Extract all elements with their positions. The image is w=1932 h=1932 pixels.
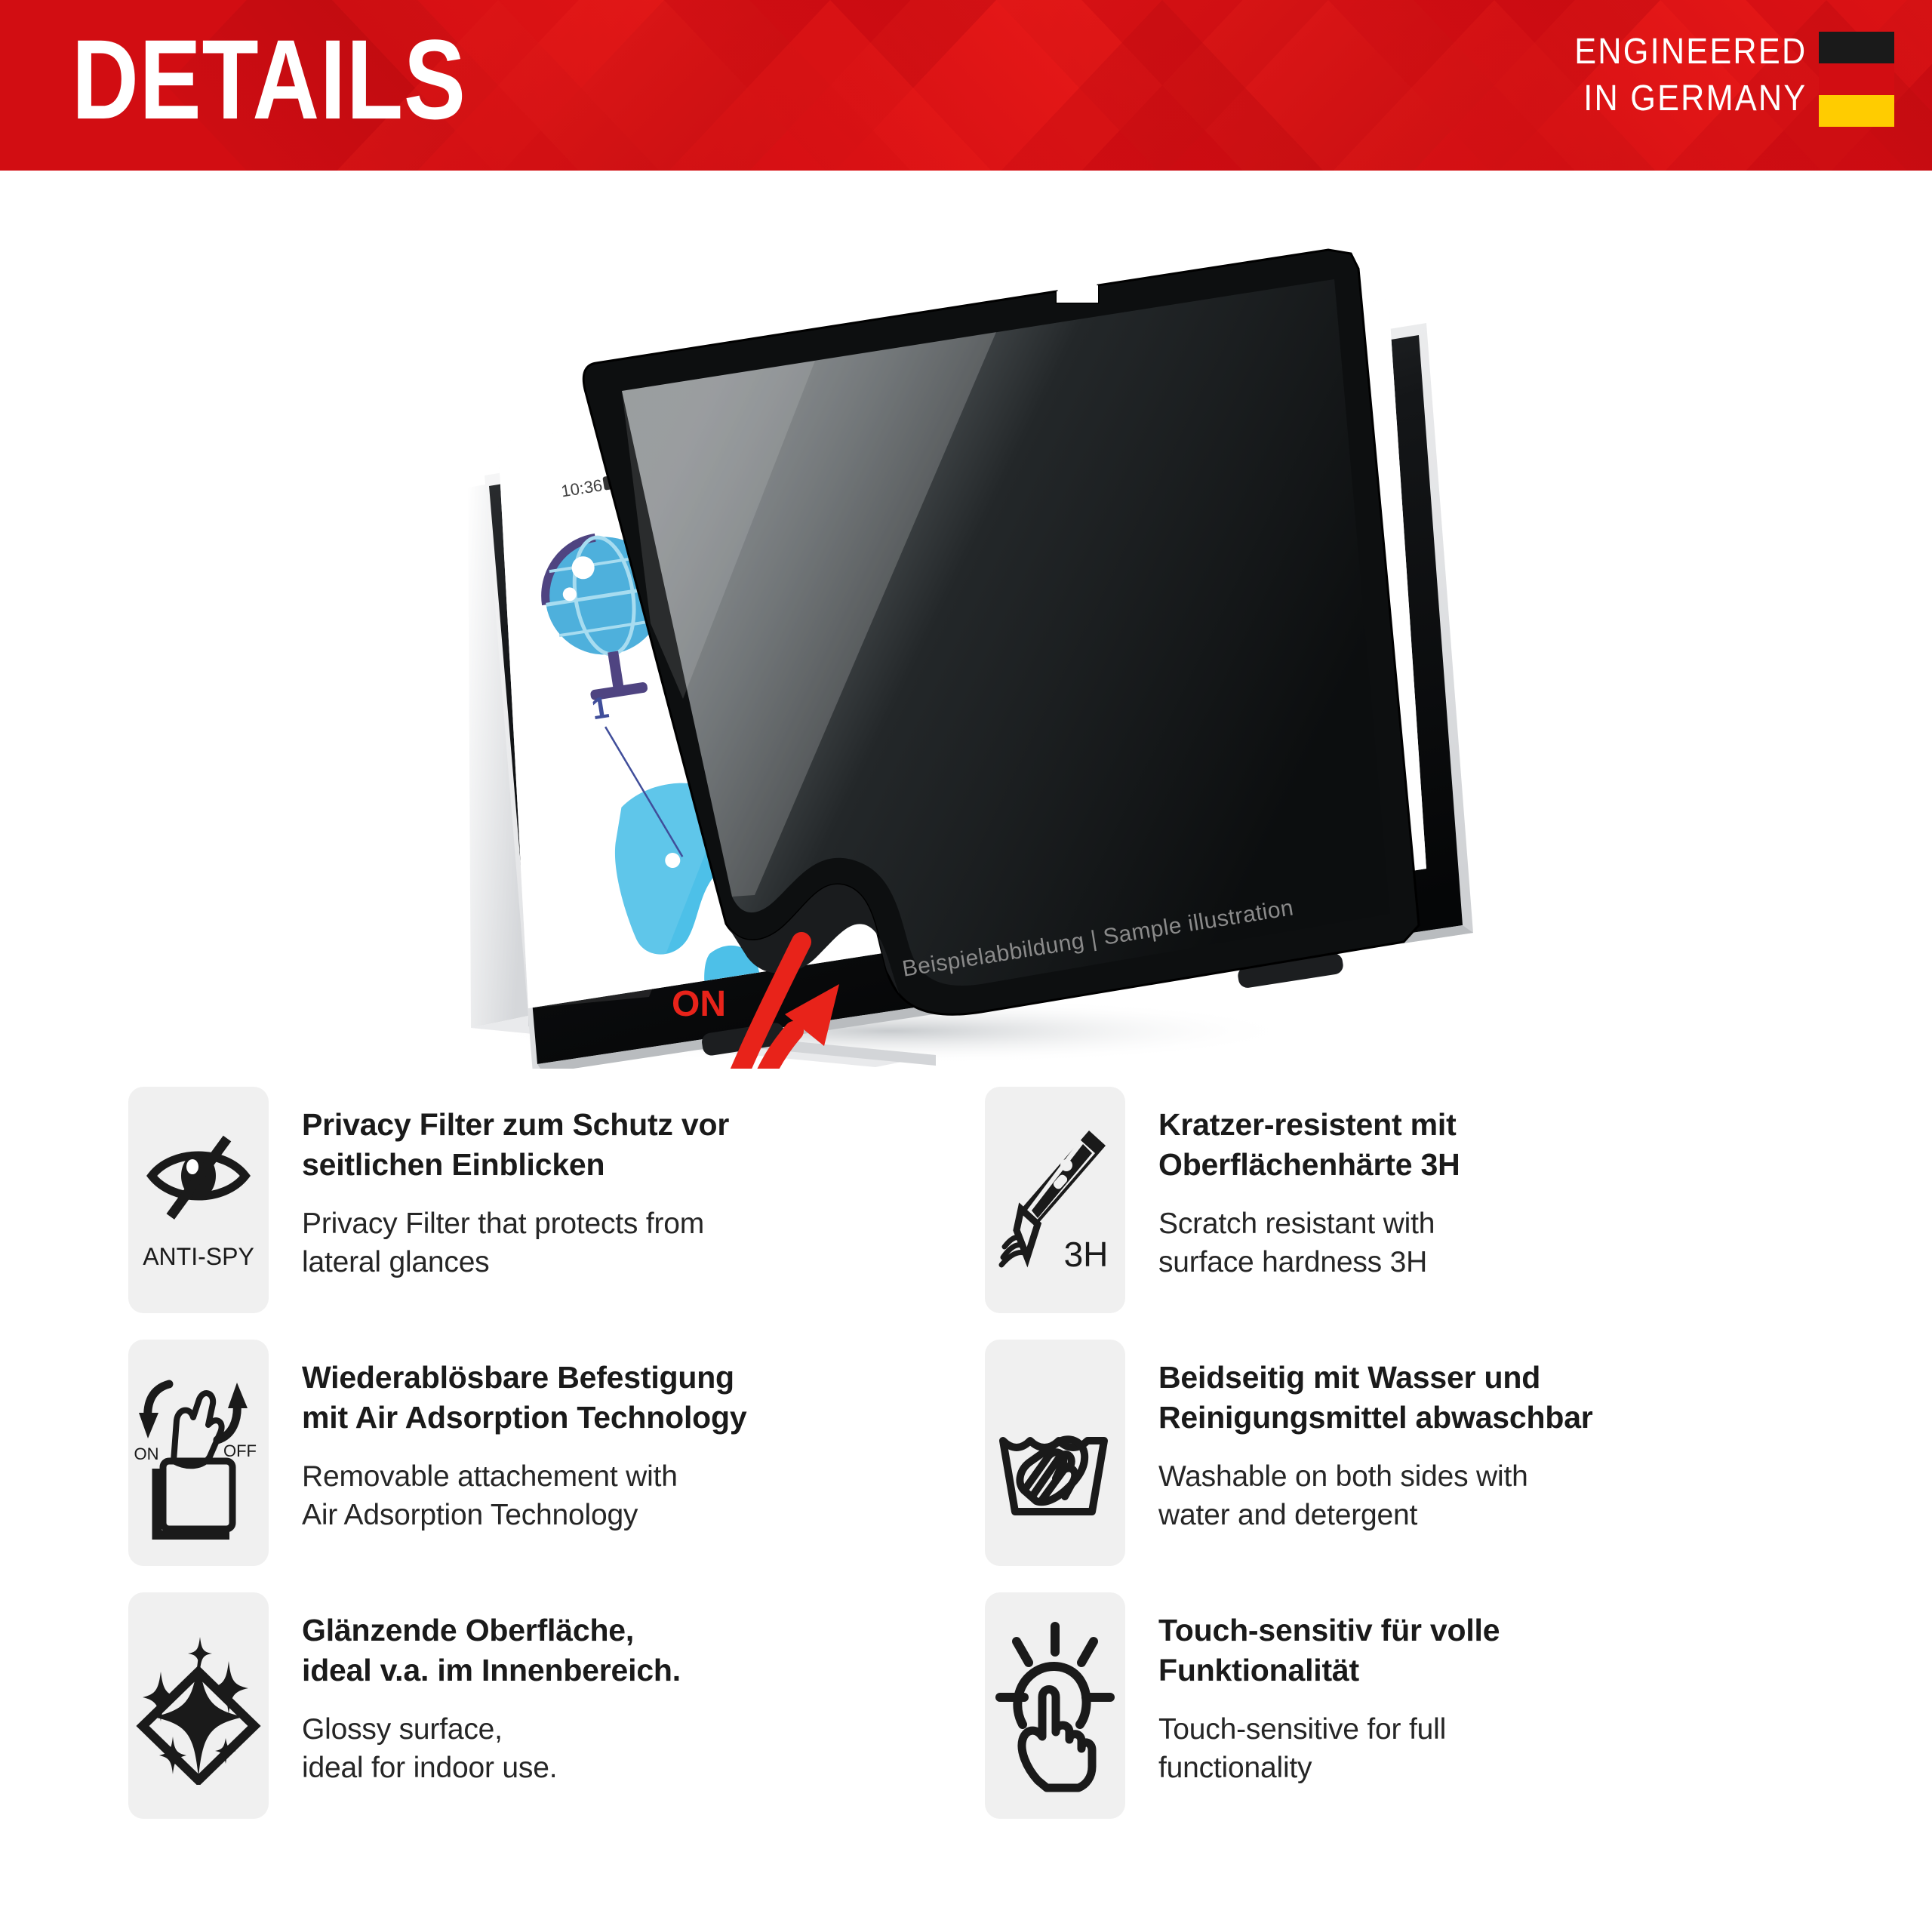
feature-text: Kratzer-resistent mit Oberflächenhärte 3… [1158,1087,1460,1281]
feature-title: Wiederablösbare Befestigung mit Air Adso… [302,1358,746,1438]
feature-subtitle: Scratch resistant with surface hardness … [1158,1204,1460,1281]
title-line: Oberflächenhärte 3H [1158,1145,1460,1185]
feature-title: Glänzende Oberfläche, ideal v.a. im Inne… [302,1611,681,1690]
sparkle-diamond-icon [128,1592,269,1819]
feature-text: Glänzende Oberfläche, ideal v.a. im Inne… [302,1592,681,1787]
anti-spy-eye-icon: ANTI-SPY [128,1087,269,1313]
feature-item-touch-sensitive: Touch-sensitiv für volle Funktionalität … [985,1592,1811,1845]
feature-title: Kratzer-resistent mit Oberflächenhärte 3… [1158,1105,1460,1185]
feature-item-glossy-surface: Glänzende Oberfläche, ideal v.a. im Inne… [128,1592,955,1845]
sub-line: surface hardness 3H [1158,1243,1460,1281]
title-line: ideal v.a. im Innenbereich. [302,1651,681,1690]
feature-subtitle: Privacy Filter that protects from latera… [302,1204,729,1281]
feature-text: Wiederablösbare Befestigung mit Air Adso… [302,1340,746,1534]
svg-text:Japan: Japan [1509,946,1566,977]
feature-subtitle: Glossy surface, ideal for indoor use. [302,1710,681,1787]
engineered-text: ENGINEERED IN GERMANY [1574,29,1807,122]
peel-on-label: ON [134,1444,159,1463]
svg-text:Italien: Italien [1467,678,1522,708]
title-line: Glänzende Oberfläche, [302,1611,681,1651]
tablet-with-privacy-filter-illustration: 10:36 90% [0,171,1932,1069]
page-title: DETAILS [72,23,466,136]
title-line: seitlichen Einblicken [302,1145,729,1185]
feature-text: Privacy Filter zum Schutz vor seitlichen… [302,1087,729,1281]
feature-text: Beidseitig mit Wasser und Reinigungsmitt… [1158,1340,1593,1534]
engineered-line-2: IN GERMANY [1574,75,1807,122]
peel-off-label: OFF [223,1441,257,1460]
feature-title: Beidseitig mit Wasser und Reinigungsmitt… [1158,1358,1593,1438]
sub-line: Touch-sensitive for full [1158,1710,1500,1749]
title-line: Wiederablösbare Befestigung [302,1358,746,1398]
feature-grid: ANTI-SPY Privacy Filter zum Schutz vor s… [0,1087,1932,1917]
title-line: Kratzer-resistent mit [1158,1105,1460,1145]
feature-text: Touch-sensitiv für volle Funktionalität … [1158,1592,1500,1787]
sub-line: lateral glances [302,1243,729,1281]
touch-finger-icon [985,1592,1125,1819]
title-line: Touch-sensitiv für volle [1158,1611,1500,1651]
engineered-in-germany-badge: ENGINEERED IN GERMANY [1549,29,1894,127]
title-line: Beidseitig mit Wasser und [1158,1358,1593,1398]
hardness-label: 3H [1064,1235,1109,1274]
feature-item-scratch-resistant: 3H Kratzer-resistent mit Oberflächenhärt… [985,1087,1811,1340]
feature-item-washable: Beidseitig mit Wasser und Reinigungsmitt… [985,1340,1811,1592]
feature-item-removable-attachment: ON OFF Wiederablösbare Befes [128,1340,955,1592]
feature-subtitle: Removable attachement with Air Adsorptio… [302,1457,746,1534]
feature-item-anti-spy: ANTI-SPY Privacy Filter zum Schutz vor s… [128,1087,955,1340]
sub-line: Air Adsorption Technology [302,1496,746,1534]
title-line: mit Air Adsorption Technology [302,1398,746,1438]
sub-line: Removable attachement with [302,1457,746,1496]
feature-title: Touch-sensitiv für volle Funktionalität [1158,1611,1500,1690]
arrow-off-label: OFF [800,1067,872,1069]
arrow-on-label: ON [672,984,726,1024]
sub-line: Washable on both sides with [1158,1457,1593,1496]
engineered-line-1: ENGINEERED [1574,29,1807,75]
hero-product-image: 10:36 90% [0,171,1932,1069]
sub-line: water and detergent [1158,1496,1593,1534]
feature-subtitle: Touch-sensitive for full functionality [1158,1710,1500,1787]
peel-film-hand-icon: ON OFF [128,1340,269,1566]
feature-title: Privacy Filter zum Schutz vor seitlichen… [302,1105,729,1185]
title-line: Funktionalität [1158,1651,1500,1690]
sub-line: Privacy Filter that protects from [302,1204,729,1243]
sub-line: functionality [1158,1749,1500,1787]
sub-line: ideal for indoor use. [302,1749,681,1787]
page-header: DETAILS ENGINEERED IN GERMANY [0,0,1932,171]
sub-line: Scratch resistant with [1158,1204,1460,1243]
sub-line: Glossy surface, [302,1710,681,1749]
feature-subtitle: Washable on both sides with water and de… [1158,1457,1593,1534]
title-line: Privacy Filter zum Schutz vor [302,1105,729,1145]
title-line: Reinigungsmittel abwaschbar [1158,1398,1593,1438]
cutter-knife-icon: 3H [985,1087,1125,1313]
anti-spy-label: ANTI-SPY [143,1243,254,1270]
german-flag-icon [1819,32,1894,127]
hand-wash-tub-icon [985,1340,1125,1566]
